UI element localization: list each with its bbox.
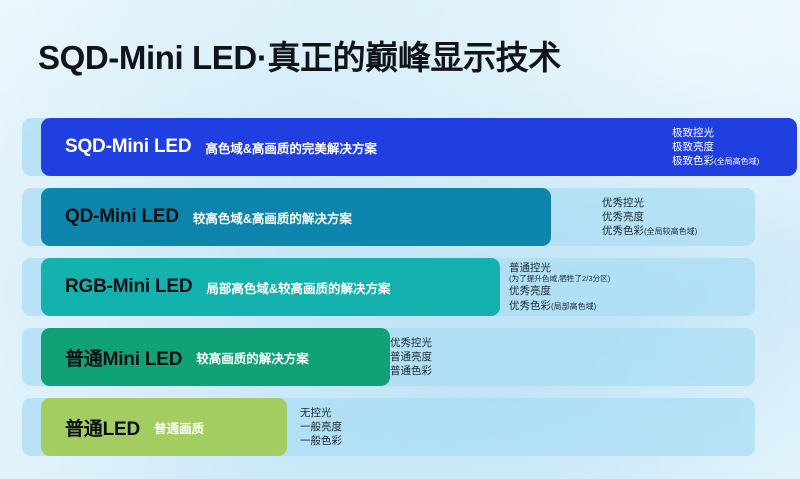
feature-text: 优秀色彩 [509, 300, 551, 312]
feature-text: 优秀亮度 [602, 211, 644, 223]
tier-description: 局部高色域&较高画质的解决方案 [206, 278, 390, 297]
tier-name: 普通LED [65, 414, 140, 441]
feature-item: 优秀色彩(全局较高色域) [602, 224, 697, 238]
feature-text: 一般色彩 [300, 435, 342, 447]
feature-item: 一般亮度 [300, 420, 342, 434]
feature-text: 优秀控光 [390, 337, 432, 349]
feature-item: 普通色彩 [390, 364, 432, 378]
feature-text: 一般亮度 [300, 421, 342, 433]
tier-features: 无控光 一般亮度 一般色彩 [300, 398, 342, 456]
tier-features: 优秀控光 普通亮度 普通色彩 [390, 328, 432, 386]
slide-background: SQD-Mini LED·真正的巅峰显示技术 SQD-Mini LED 高色域&… [0, 0, 800, 479]
feature-text: 普通控光 [509, 262, 551, 274]
feature-text: 普通色彩 [390, 365, 432, 377]
tier-description: 高色域&高画质的完美解决方案 [205, 138, 377, 157]
feature-sub: (全局较高色域) [644, 227, 697, 236]
feature-item: 优秀亮度 [509, 284, 610, 298]
page-title: SQD-Mini LED·真正的巅峰显示技术 [38, 31, 561, 79]
tier-description: 较高色域&高画质的解决方案 [193, 208, 352, 227]
feature-item: 一般色彩 [300, 434, 342, 448]
feature-text: 极致色彩 [672, 155, 714, 167]
feature-text: 普通亮度 [390, 351, 432, 363]
tier-features: 极致控光 极致亮度 极致色彩(全局高色域) [672, 118, 759, 176]
feature-item: 无控光 [300, 406, 342, 420]
feature-sub: (全局高色域) [714, 157, 759, 166]
tier-bar[interactable]: QD-Mini LED 较高色域&高画质的解决方案 [41, 188, 551, 246]
tier-description: 普通画质 [154, 418, 204, 437]
feature-item: 极致控光 [672, 126, 759, 140]
tier-description: 较高画质的解决方案 [196, 348, 309, 367]
tier-features: 普通控光 (为了提升色域,牺牲了2/3分区) 优秀亮度 优秀色彩(局部高色域) [509, 258, 610, 316]
tier-name: 普通Mini LED [65, 344, 182, 371]
tier-bar[interactable]: RGB-Mini LED 局部高色域&较高画质的解决方案 [41, 258, 500, 316]
feature-item: 优秀控光 [602, 196, 697, 210]
feature-text: 极致控光 [672, 127, 714, 139]
tier-bar[interactable]: 普通Mini LED 较高画质的解决方案 [41, 328, 390, 386]
feature-item: 优秀控光 [390, 336, 432, 350]
feature-text: 优秀控光 [602, 197, 644, 209]
tier-name: RGB-Mini LED [65, 276, 192, 298]
tier-bar[interactable]: 普通LED 普通画质 [41, 398, 287, 456]
feature-note: (为了提升色域,牺牲了2/3分区) [509, 274, 610, 284]
tier-features: 优秀控光 优秀亮度 优秀色彩(全局较高色域) [602, 188, 697, 246]
feature-sub: (局部高色域) [551, 302, 596, 311]
feature-item: 极致色彩(全局高色域) [672, 154, 759, 168]
feature-item: 优秀色彩(局部高色域) [509, 299, 610, 313]
feature-text: 优秀色彩 [602, 225, 644, 237]
feature-text: 极致亮度 [672, 141, 714, 153]
feature-text: 优秀亮度 [509, 285, 551, 297]
feature-item: 极致亮度 [672, 140, 759, 154]
tier-name: SQD-Mini LED [65, 136, 191, 158]
feature-item: 优秀亮度 [602, 210, 697, 224]
feature-text: 无控光 [300, 407, 332, 419]
tier-name: QD-Mini LED [65, 206, 179, 228]
feature-item: 普通亮度 [390, 350, 432, 364]
